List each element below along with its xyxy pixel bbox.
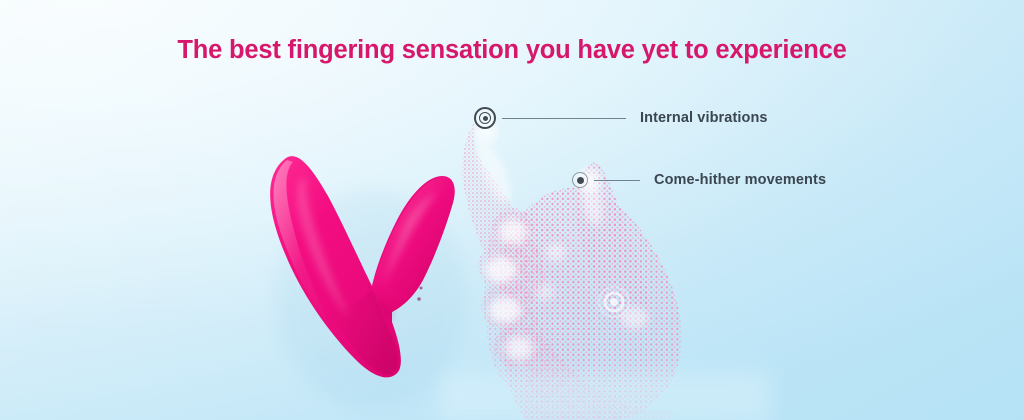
page-title: The best fingering sensation you have ye…	[0, 36, 1024, 65]
promo-banner: The best fingering sensation you have ye…	[0, 0, 1024, 420]
callout-label: Come-hither movements	[654, 172, 826, 188]
callout-internal-vibrations[interactable]: Internal vibrations	[474, 107, 768, 129]
target-dot-icon[interactable]	[572, 172, 588, 188]
leader-line	[594, 180, 640, 181]
product-body	[270, 156, 468, 410]
leader-line	[502, 118, 626, 119]
target-ring-icon[interactable]	[474, 107, 496, 129]
callout-come-hither-movements[interactable]: Come-hither movements	[572, 172, 826, 188]
callout-label: Internal vibrations	[640, 110, 768, 126]
